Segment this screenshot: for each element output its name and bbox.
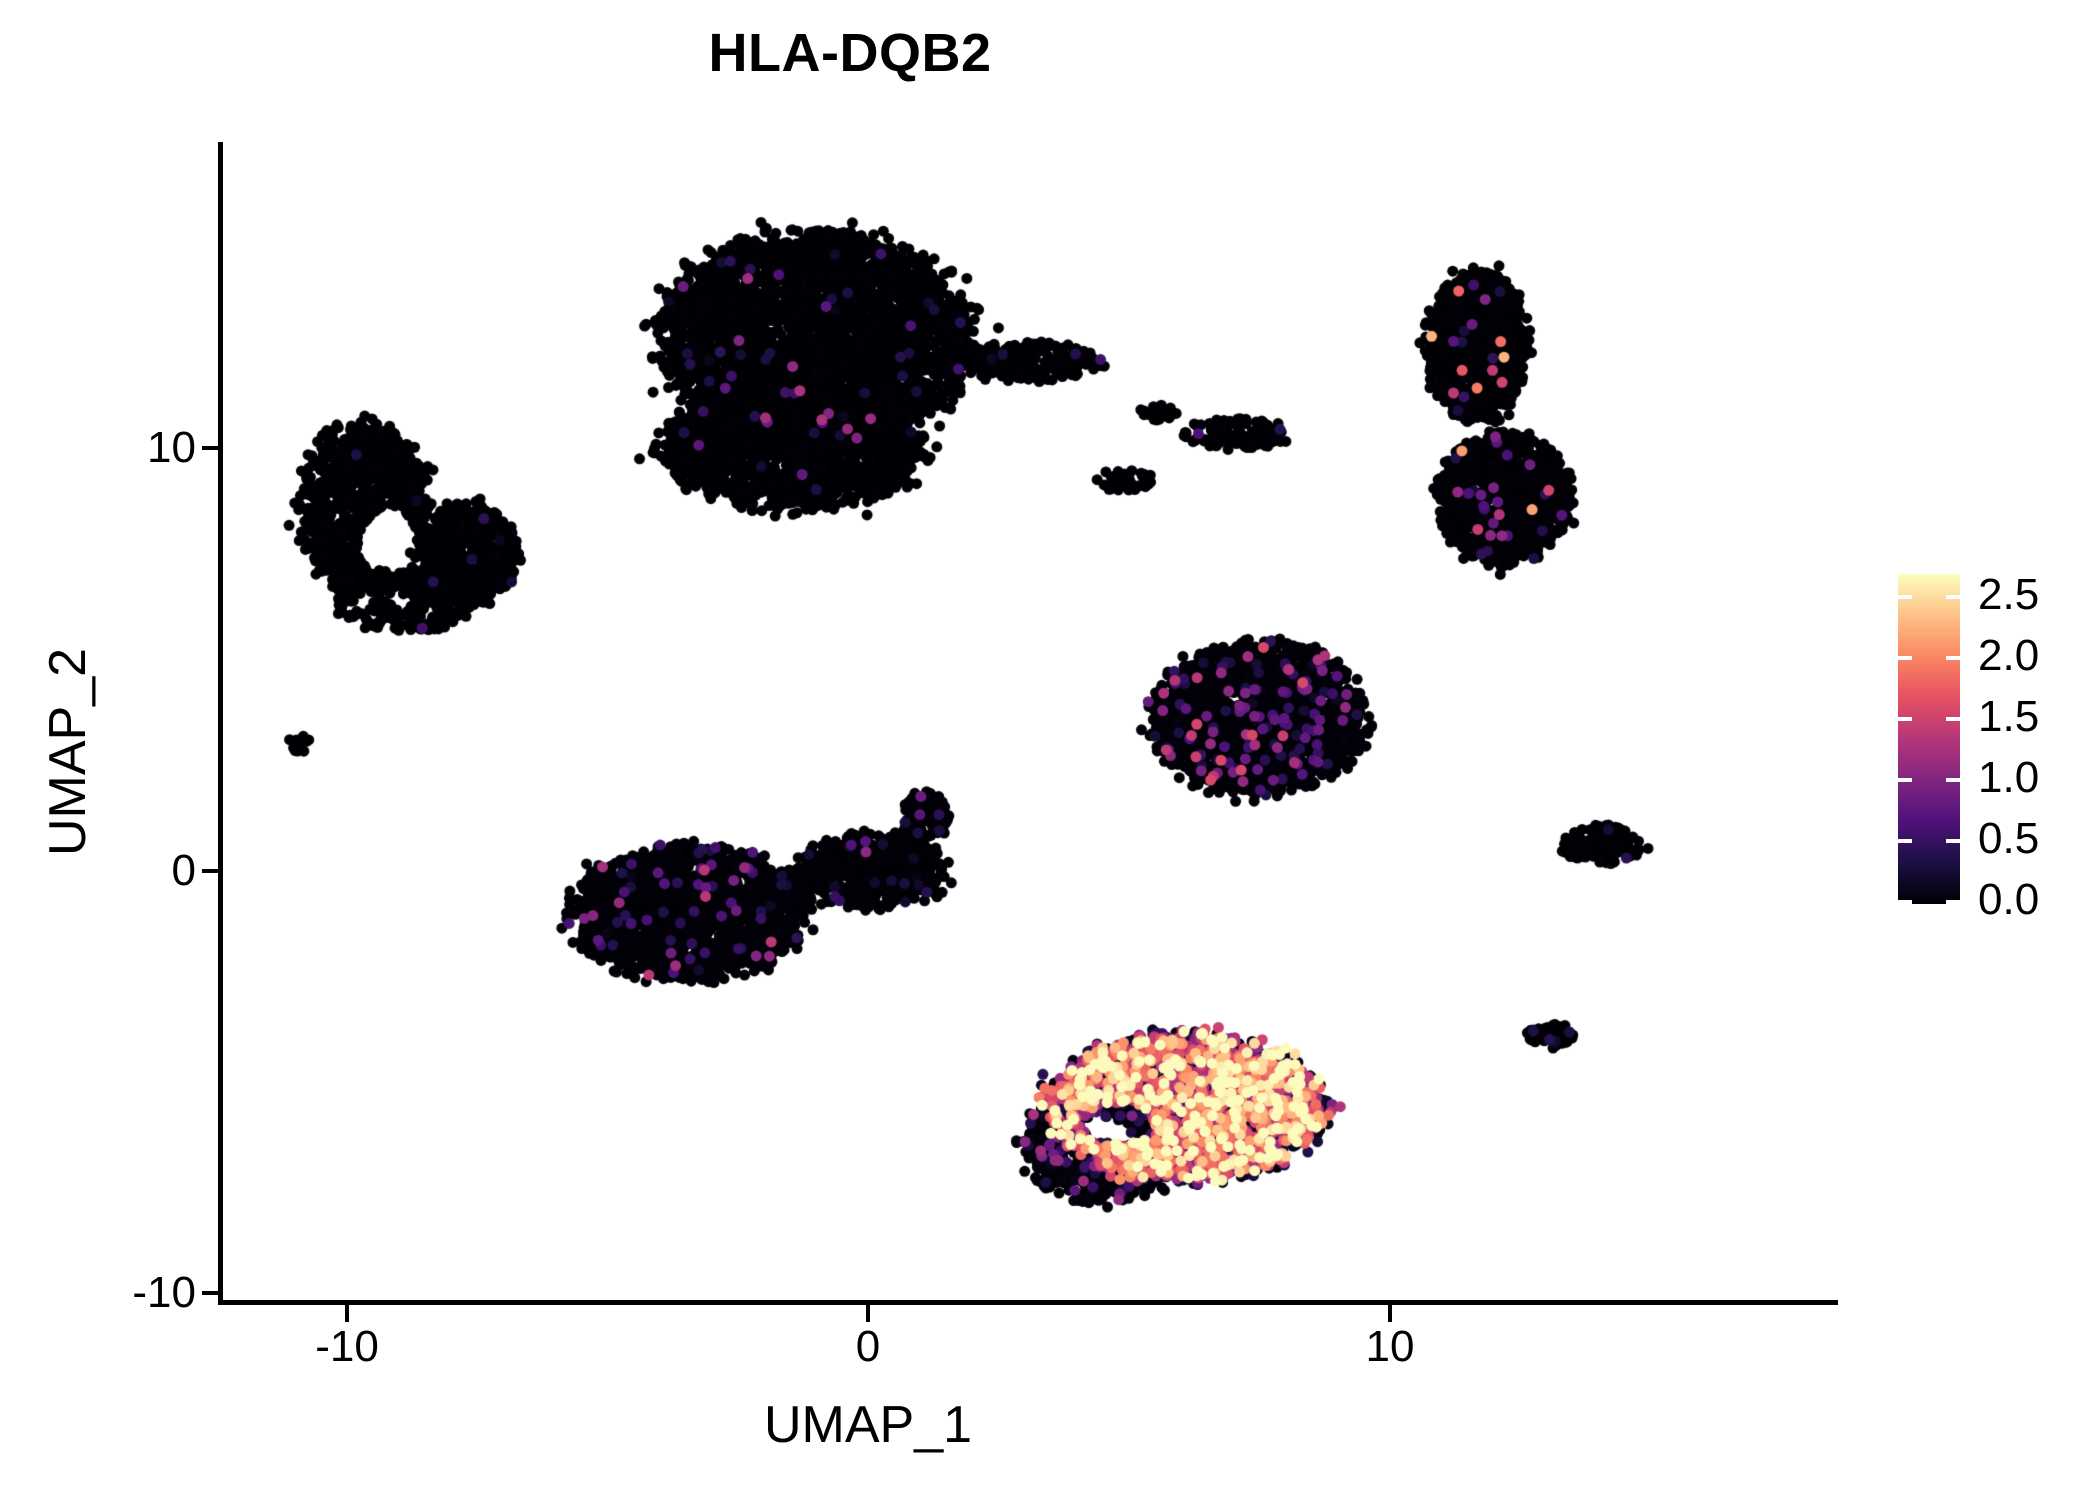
x-axis-line <box>218 1300 1838 1305</box>
x-tick-mark-minus10 <box>345 1305 349 1322</box>
color-legend: 2.5 2.0 1.5 1.0 0.5 0.0 <box>1898 574 2098 904</box>
y-tick-mark-minus10 <box>202 1291 218 1295</box>
y-axis-title: UMAP_2 <box>38 452 98 1052</box>
umap-feature-plot: HLA-DQB2 10 0 -10 -10 0 10 UMAP_2 UMAP_1… <box>0 0 2100 1500</box>
legend-tick-1_5-right <box>1946 717 1960 721</box>
legend-tick-2_5-right <box>1946 595 1960 599</box>
legend-label-0_5: 0.5 <box>1978 814 2039 864</box>
legend-label-2_0: 2.0 <box>1978 631 2039 681</box>
legend-label-2_5: 2.5 <box>1978 570 2039 620</box>
y-axis-line <box>218 142 223 1305</box>
plot-panel <box>222 142 1842 1302</box>
x-tick-mark-10 <box>1388 1305 1392 1322</box>
legend-tick-0_5-left <box>1898 839 1912 843</box>
y-tick-label-0: 0 <box>172 846 196 896</box>
legend-tick-0_0-left <box>1898 900 1912 904</box>
y-tick-mark-10 <box>202 446 218 450</box>
x-tick-label-0: 0 <box>856 1322 880 1372</box>
legend-label-1_0: 1.0 <box>1978 753 2039 803</box>
color-legend-bar <box>1898 574 1960 904</box>
y-tick-label-10: 10 <box>147 423 196 473</box>
legend-tick-2_0-left <box>1898 656 1912 660</box>
y-tick-label-minus10: -10 <box>132 1268 196 1318</box>
legend-tick-1_0-left <box>1898 778 1912 782</box>
legend-tick-1_0-right <box>1946 778 1960 782</box>
legend-tick-1_5-left <box>1898 717 1912 721</box>
legend-label-1_5: 1.5 <box>1978 692 2039 742</box>
x-tick-label-10: 10 <box>1366 1322 1415 1372</box>
x-axis-title: UMAP_1 <box>568 1395 1168 1455</box>
scatter-canvas <box>222 142 1842 1302</box>
legend-tick-0_0-right <box>1946 900 1960 904</box>
x-tick-mark-0 <box>866 1305 870 1322</box>
x-tick-label-minus10: -10 <box>315 1322 379 1372</box>
legend-label-0_0: 0.0 <box>1978 875 2039 925</box>
legend-tick-2_5-left <box>1898 595 1912 599</box>
page-title: HLA-DQB2 <box>0 22 1700 84</box>
legend-tick-2_0-right <box>1946 656 1960 660</box>
legend-tick-0_5-right <box>1946 839 1960 843</box>
y-tick-mark-0 <box>202 869 218 873</box>
